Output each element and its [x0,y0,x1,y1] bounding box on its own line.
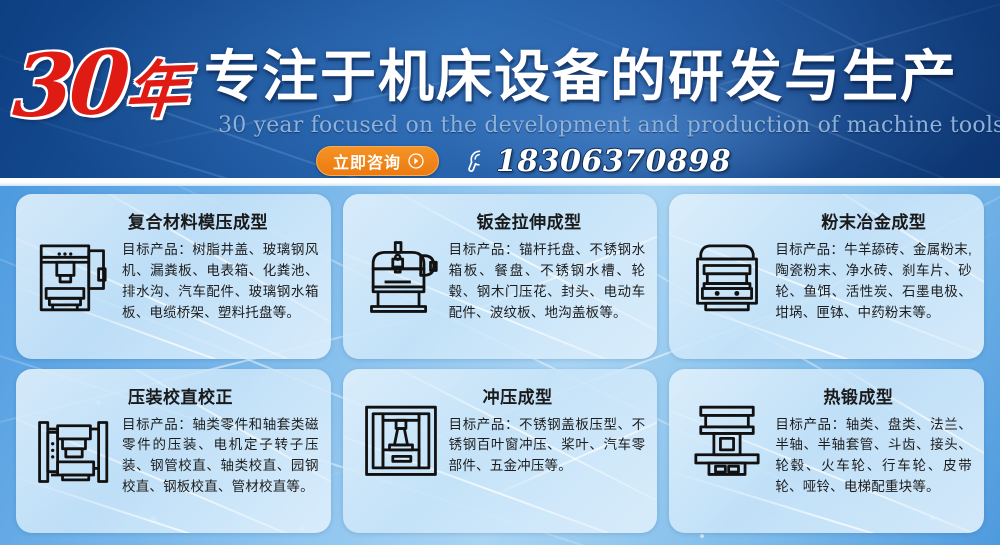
header-divider [0,178,1000,186]
card-description: 目标产品：锚杆托盘、不锈钢水箱板、餐盘、不锈钢水槽、轮毂、钢木门压花、封头、电动… [449,240,646,324]
phone-block: 18306370898 [465,144,731,179]
anniversary-logo: 30年 [10,25,218,144]
consult-now-label: 立即咨询 [333,149,401,173]
product-card[interactable]: 压装校直校正 目标产品：轴类零件和轴套类磁零件的压装、电机定子转子压装、钢管校直… [16,369,331,534]
card-description: 目标产品：牛羊舔砖、金属粉末,陶瓷粉末、净水砖、刹车片、砂轮、鱼饵、活性炭、石墨… [775,240,972,324]
banner-header: 30年 专注于机床设备的研发与生产 30 year focused on the… [0,0,1000,186]
cta-row: 立即咨询 18306370898 [316,145,731,177]
card-description: 目标产品：不锈钢盖板压型、不锈钢百叶窗冲压、桨叶、汽车零部件、五金冲压等。 [449,415,646,478]
telephone-icon [465,149,487,173]
press-machine-powder-icon [679,206,775,349]
main-title: 专注于机床设备的研发与生产 [204,44,994,110]
press-machine-stamping-icon [353,381,449,524]
press-machine-composite-icon [26,206,122,349]
press-machine-forging-icon [679,381,775,524]
product-card[interactable]: 复合材料模压成型 目标产品：树脂井盖、玻璃钢风机、漏粪板、电表箱、化粪池、排水沟… [16,194,331,359]
card-title: 冲压成型 [449,383,646,408]
card-description: 目标产品：轴类、盘类、法兰、半轴、半轴套管、斗齿、接头、轮毂、火车轮、行车轮、皮… [775,415,972,499]
product-card-grid: 复合材料模压成型 目标产品：树脂井盖、玻璃钢风机、漏粪板、电表箱、化粪池、排水沟… [0,186,1000,545]
cards-section: 复合材料模压成型 目标产品：树脂井盖、玻璃钢风机、漏粪板、电表箱、化粪池、排水沟… [0,186,1000,545]
consult-now-button[interactable]: 立即咨询 [316,146,439,176]
anniversary-unit: 年 [123,52,190,127]
card-description: 目标产品：树脂井盖、玻璃钢风机、漏粪板、电表箱、化粪池、排水沟、汽车配件、玻璃钢… [122,240,319,324]
card-title: 压装校直校正 [122,383,319,408]
card-body: 粉末冶金成型 目标产品：牛羊舔砖、金属粉末,陶瓷粉末、净水砖、刹车片、砂轮、鱼饵… [775,206,972,324]
press-machine-straighten-icon [26,381,122,524]
sub-title: 30 year focused on the development and p… [218,113,998,138]
press-machine-drawing-icon [353,206,449,349]
card-body: 复合材料模压成型 目标产品：树脂井盖、玻璃钢风机、漏粪板、电表箱、化粪池、排水沟… [122,206,319,324]
card-body: 热锻成型 目标产品：轴类、盘类、法兰、半轴、半轴套管、斗齿、接头、轮毂、火车轮、… [775,381,972,499]
card-title: 热锻成型 [775,383,972,408]
card-title: 复合材料模压成型 [122,208,319,233]
product-card[interactable]: 热锻成型 目标产品：轴类、盘类、法兰、半轴、半轴套管、斗齿、接头、轮毂、火车轮、… [669,369,984,534]
product-card[interactable]: 冲压成型 目标产品：不锈钢盖板压型、不锈钢百叶窗冲压、桨叶、汽车零部件、五金冲压… [343,369,658,534]
phone-number[interactable]: 18306370898 [496,144,731,179]
product-card[interactable]: 钣金拉伸成型 目标产品：锚杆托盘、不锈钢水箱板、餐盘、不锈钢水槽、轮毂、钢木门压… [343,194,658,359]
card-body: 压装校直校正 目标产品：轴类零件和轴套类磁零件的压装、电机定子转子压装、钢管校直… [122,381,319,499]
promo-banner: 30年 专注于机床设备的研发与生产 30 year focused on the… [0,0,1000,545]
card-title: 粉末冶金成型 [775,208,972,233]
circle-arrow-right-icon [408,153,424,169]
card-body: 钣金拉伸成型 目标产品：锚杆托盘、不锈钢水箱板、餐盘、不锈钢水槽、轮毂、钢木门压… [449,206,646,324]
card-description: 目标产品：轴类零件和轴套类磁零件的压装、电机定子转子压装、钢管校直、轴类校直、园… [122,415,319,499]
product-card[interactable]: 粉末冶金成型 目标产品：牛羊舔砖、金属粉末,陶瓷粉末、净水砖、刹车片、砂轮、鱼饵… [669,194,984,359]
card-title: 钣金拉伸成型 [449,208,646,233]
card-body: 冲压成型 目标产品：不锈钢盖板压型、不锈钢百叶窗冲压、桨叶、汽车零部件、五金冲压… [449,381,646,478]
anniversary-number: 30 [10,33,129,138]
